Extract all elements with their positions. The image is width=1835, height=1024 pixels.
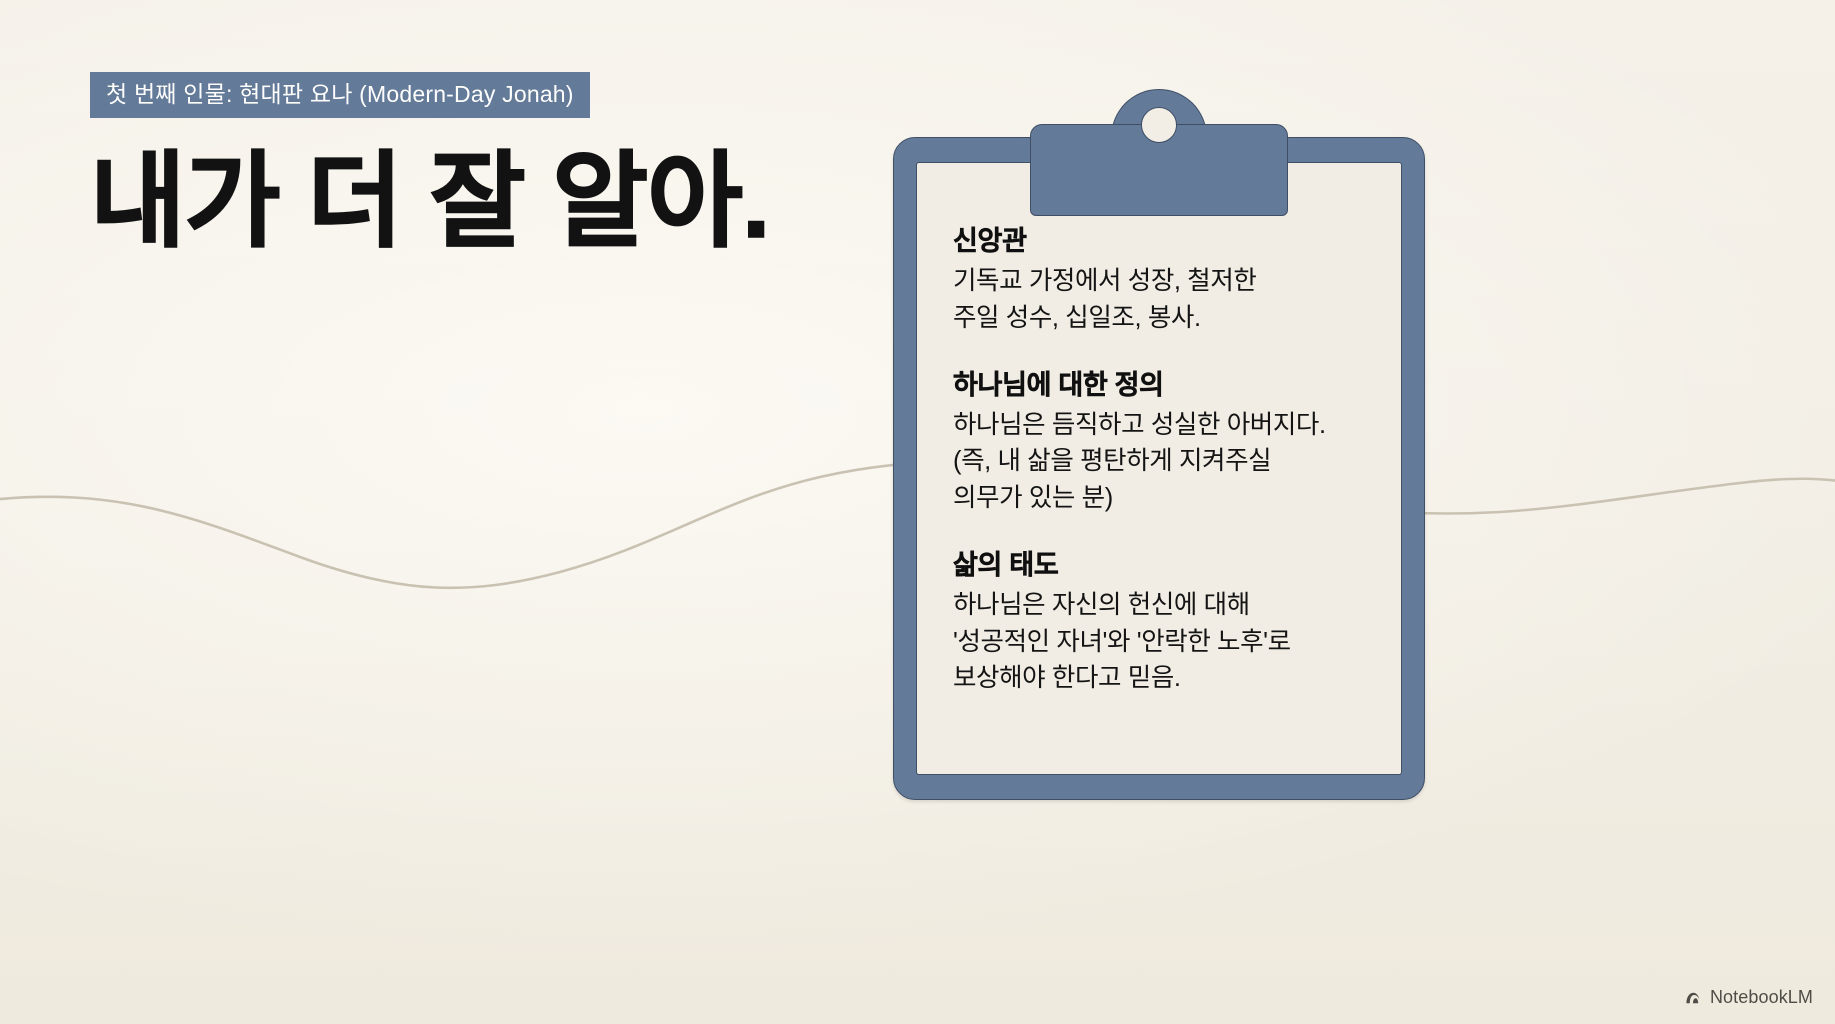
clipboard-block-heading: 하나님에 대한 정의 <box>953 368 1391 403</box>
clipboard-clip-hole-icon <box>1141 107 1177 143</box>
clipboard-content-list: 신앙관 기독교 가정에서 성장, 철저한 주일 성수, 십일조, 봉사. 하나님… <box>953 224 1391 697</box>
clipboard-block-heading: 삶의 태도 <box>953 548 1391 583</box>
clipboard-block-body: 하나님은 자신의 헌신에 대해 '성공적인 자녀'와 '안락한 노후'로 보상해… <box>953 587 1391 697</box>
notebooklm-arc-icon <box>1683 988 1703 1008</box>
presentation-slide: 첫 번째 인물: 현대판 요나 (Modern-Day Jonah) 내가 더 … <box>0 0 1835 1024</box>
notebooklm-label: NotebookLM <box>1710 987 1813 1008</box>
notebooklm-watermark: NotebookLM <box>1683 987 1813 1008</box>
clipboard-block-3: 삶의 태도 하나님은 자신의 헌신에 대해 '성공적인 자녀'와 '안락한 노후… <box>953 548 1391 697</box>
page-title: 내가 더 잘 알아. <box>90 144 870 260</box>
clipboard-block-1: 신앙관 기독교 가정에서 성장, 철저한 주일 성수, 십일조, 봉사. <box>953 224 1391 337</box>
slide-left-column: 첫 번째 인물: 현대판 요나 (Modern-Day Jonah) 내가 더 … <box>90 72 870 261</box>
clipboard-block-body: 하나님은 듬직하고 성실한 아버지다. (즉, 내 삶을 평탄하게 지켜주실 의… <box>953 407 1391 517</box>
clipboard-illustration: 신앙관 기독교 가정에서 성장, 철저한 주일 성수, 십일조, 봉사. 하나님… <box>893 88 1425 800</box>
clipboard-block-2: 하나님에 대한 정의 하나님은 듬직하고 성실한 아버지다. (즉, 내 삶을 … <box>953 368 1391 517</box>
clipboard-block-heading: 신앙관 <box>953 224 1391 259</box>
clipboard-block-body: 기독교 가정에서 성장, 철저한 주일 성수, 십일조, 봉사. <box>953 263 1391 336</box>
eyebrow-label: 첫 번째 인물: 현대판 요나 (Modern-Day Jonah) <box>90 72 590 118</box>
